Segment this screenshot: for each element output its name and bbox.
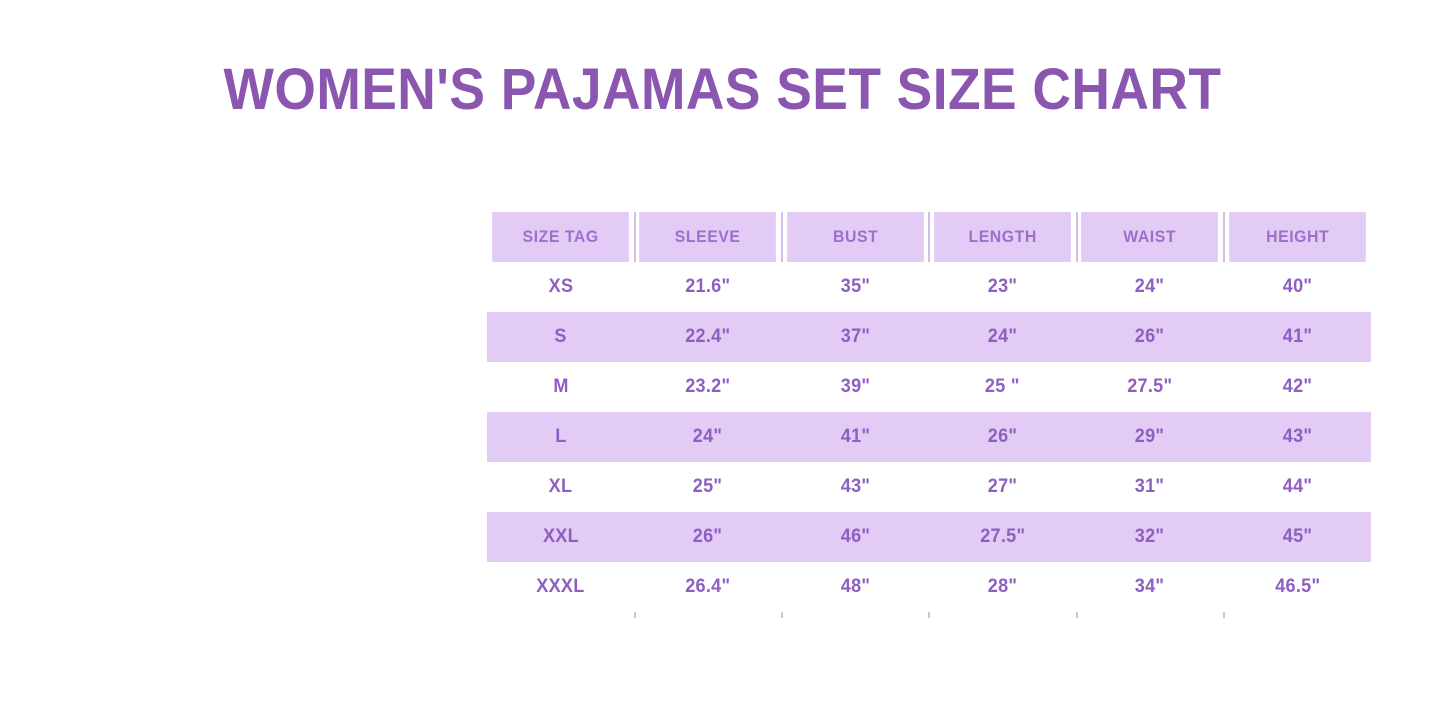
- cell-value: 27.5": [1127, 376, 1172, 398]
- cell-value: 46.5": [1275, 576, 1320, 598]
- column-header-size-tag: SIZE TAG: [492, 212, 629, 262]
- size-chart-container: SIZE TAG SLEEVE BUST LENGTH WAIST HEIGHT…: [487, 212, 1371, 618]
- cell-value: 37": [841, 326, 870, 348]
- cell-value: 25": [693, 476, 722, 498]
- cell-waist: 34": [1076, 562, 1223, 612]
- cell-value: 41": [841, 426, 870, 448]
- cell-value: 42": [1283, 376, 1312, 398]
- cell-height: 45": [1224, 512, 1371, 562]
- cell-waist: 24": [1076, 262, 1223, 312]
- cell-sleeve: 21.6": [634, 262, 781, 312]
- cell-bust: 48": [782, 562, 929, 612]
- table-row: L 24" 41" 26" 29" 43": [487, 412, 1371, 462]
- size-chart-table: SIZE TAG SLEEVE BUST LENGTH WAIST HEIGHT…: [487, 212, 1371, 612]
- cell-value: XS: [548, 276, 573, 298]
- cell-value: 25 ": [985, 376, 1020, 398]
- cell-value: 35": [841, 276, 870, 298]
- cell-waist: 27.5": [1076, 362, 1223, 412]
- cell-value: 44": [1283, 476, 1312, 498]
- table-row: S 22.4" 37" 24" 26" 41": [487, 312, 1371, 362]
- cell-sleeve: 26.4": [634, 562, 781, 612]
- cell-size-tag: M: [487, 362, 634, 412]
- cell-value: 24": [988, 326, 1017, 348]
- cell-length: 26": [929, 412, 1076, 462]
- cell-value: 31": [1135, 476, 1164, 498]
- cell-value: 43": [841, 476, 870, 498]
- cell-length: 25 ": [929, 362, 1076, 412]
- cell-value: XL: [549, 476, 573, 498]
- cell-size-tag: S: [487, 312, 634, 362]
- cell-length: 27.5": [929, 512, 1076, 562]
- cell-sleeve: 24": [634, 412, 781, 462]
- cell-sleeve: 23.2": [634, 362, 781, 412]
- cell-size-tag: XXL: [487, 512, 634, 562]
- table-body: XS 21.6" 35" 23" 24" 40" S 22.4" 37" 24"…: [487, 262, 1371, 612]
- cell-value: 24": [693, 426, 722, 448]
- cell-value: 39": [841, 376, 870, 398]
- cell-value: S: [554, 326, 566, 348]
- table-header-row: SIZE TAG SLEEVE BUST LENGTH WAIST HEIGHT: [487, 212, 1371, 262]
- cell-value: 23.2": [685, 376, 730, 398]
- cell-height: 44": [1224, 462, 1371, 512]
- cell-length: 28": [929, 562, 1076, 612]
- cell-waist: 26": [1076, 312, 1223, 362]
- cell-height: 43": [1224, 412, 1371, 462]
- cell-value: L: [555, 426, 566, 448]
- cell-value: 26": [693, 526, 722, 548]
- cell-length: 24": [929, 312, 1076, 362]
- table-row: XXXL 26.4" 48" 28" 34" 46.5": [487, 562, 1371, 612]
- cell-bust: 35": [782, 262, 929, 312]
- page-title: WOMEN'S PAJAMAS SET SIZE CHART: [58, 56, 1387, 123]
- cell-sleeve: 25": [634, 462, 781, 512]
- cell-value: 21.6": [685, 276, 730, 298]
- column-header-length: LENGTH: [934, 212, 1071, 262]
- cell-value: 24": [1135, 276, 1164, 298]
- table-row: XXL 26" 46" 27.5" 32" 45": [487, 512, 1371, 562]
- cell-value: XXL: [543, 526, 579, 548]
- cell-height: 46.5": [1224, 562, 1371, 612]
- cell-value: 27.5": [980, 526, 1025, 548]
- cell-value: 22.4": [685, 326, 730, 348]
- cell-sleeve: 22.4": [634, 312, 781, 362]
- cell-value: 45": [1283, 526, 1312, 548]
- cell-waist: 32": [1076, 512, 1223, 562]
- cell-length: 23": [929, 262, 1076, 312]
- cell-value: 32": [1135, 526, 1164, 548]
- cell-bust: 46": [782, 512, 929, 562]
- cell-waist: 31": [1076, 462, 1223, 512]
- cell-value: 46": [841, 526, 870, 548]
- table-row: XL 25" 43" 27" 31" 44": [487, 462, 1371, 512]
- cell-value: 26": [988, 426, 1017, 448]
- cell-value: 43": [1283, 426, 1312, 448]
- cell-value: 41": [1283, 326, 1312, 348]
- cell-height: 40": [1224, 262, 1371, 312]
- cell-bust: 41": [782, 412, 929, 462]
- cell-sleeve: 26": [634, 512, 781, 562]
- cell-waist: 29": [1076, 412, 1223, 462]
- cell-value: 26.4": [685, 576, 730, 598]
- cell-bust: 37": [782, 312, 929, 362]
- cell-value: 48": [841, 576, 870, 598]
- table-row: M 23.2" 39" 25 " 27.5" 42": [487, 362, 1371, 412]
- cell-size-tag: L: [487, 412, 634, 462]
- table-row: XS 21.6" 35" 23" 24" 40": [487, 262, 1371, 312]
- cell-size-tag: XS: [487, 262, 634, 312]
- cell-value: 34": [1135, 576, 1164, 598]
- column-header-waist: WAIST: [1081, 212, 1218, 262]
- cell-size-tag: XL: [487, 462, 634, 512]
- cell-height: 42": [1224, 362, 1371, 412]
- cell-value: 26": [1135, 326, 1164, 348]
- cell-value: M: [553, 376, 568, 398]
- cell-value: 28": [988, 576, 1017, 598]
- cell-value: 29": [1135, 426, 1164, 448]
- table-header: SIZE TAG SLEEVE BUST LENGTH WAIST HEIGHT: [487, 212, 1371, 262]
- column-header-height: HEIGHT: [1229, 212, 1366, 262]
- cell-bust: 43": [782, 462, 929, 512]
- column-header-sleeve: SLEEVE: [639, 212, 776, 262]
- cell-value: 23": [988, 276, 1017, 298]
- cell-length: 27": [929, 462, 1076, 512]
- cell-value: 40": [1283, 276, 1312, 298]
- cell-value: 27": [988, 476, 1017, 498]
- cell-height: 41": [1224, 312, 1371, 362]
- cell-value: XXXL: [537, 576, 585, 598]
- cell-size-tag: XXXL: [487, 562, 634, 612]
- column-header-bust: BUST: [787, 212, 924, 262]
- cell-bust: 39": [782, 362, 929, 412]
